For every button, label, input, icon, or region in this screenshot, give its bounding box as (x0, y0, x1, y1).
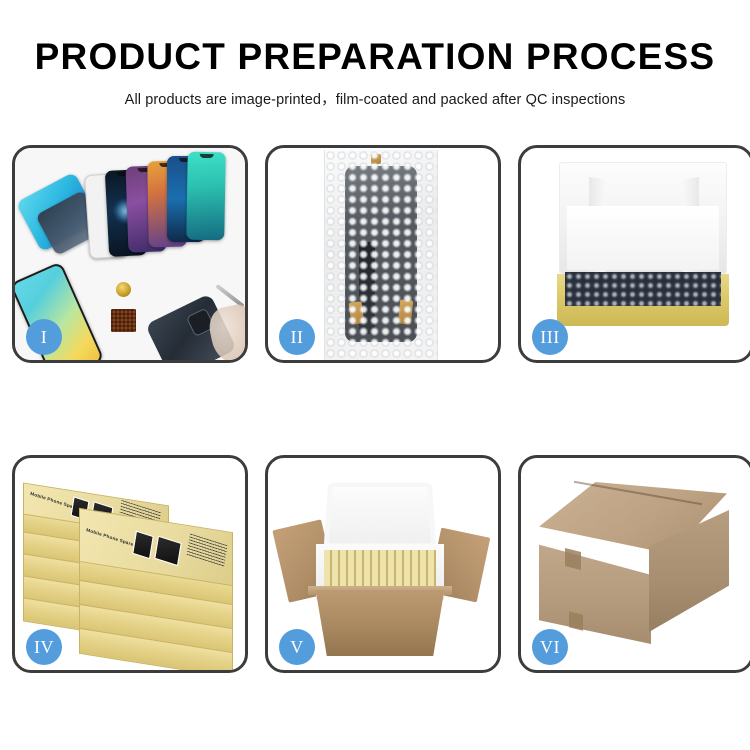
foam-lid-open (324, 483, 437, 548)
step-badge-6: VI (532, 629, 568, 665)
packed-bubble-contents (565, 272, 721, 306)
page-header: PRODUCT PREPARATION PROCESS All products… (0, 0, 750, 109)
page-subtitle: All products are image-printed，film-coat… (0, 88, 750, 109)
process-step-panel-3: III (518, 145, 750, 363)
carton-tape-patch-lower (569, 611, 583, 630)
carton-front-face (539, 536, 651, 644)
packed-yellow-boxes (324, 550, 436, 590)
step-badge-3: III (532, 319, 568, 355)
step-badge-2: II (279, 319, 315, 355)
page-title: PRODUCT PREPARATION PROCESS (0, 38, 750, 77)
phone-screen-teal (186, 152, 226, 241)
bubble-wrap-bag (324, 150, 438, 360)
process-step-grid: I II III (12, 145, 742, 673)
bubble-texture (325, 150, 437, 360)
process-step-panel-2: II (265, 145, 501, 363)
process-step-panel-5: V (265, 455, 501, 673)
step-badge-1: I (26, 319, 62, 355)
foam-sheet (567, 206, 719, 270)
process-step-panel-1: I (12, 145, 248, 363)
carton-tape-patch-upper (565, 548, 581, 570)
process-step-panel-4: Mobile Phone Spare Parts Mobile Phone Sp… (12, 455, 248, 673)
chip-grid-part (111, 309, 136, 332)
box-strip-texture (324, 550, 436, 590)
step-badge-4: IV (26, 629, 62, 665)
process-step-panel-6: VI (518, 455, 750, 673)
copper-coil-part (116, 282, 131, 297)
notch (200, 154, 214, 158)
step-badge-5: V (279, 629, 315, 665)
kraft-carton-body (310, 590, 450, 656)
box-window-left (132, 531, 154, 560)
